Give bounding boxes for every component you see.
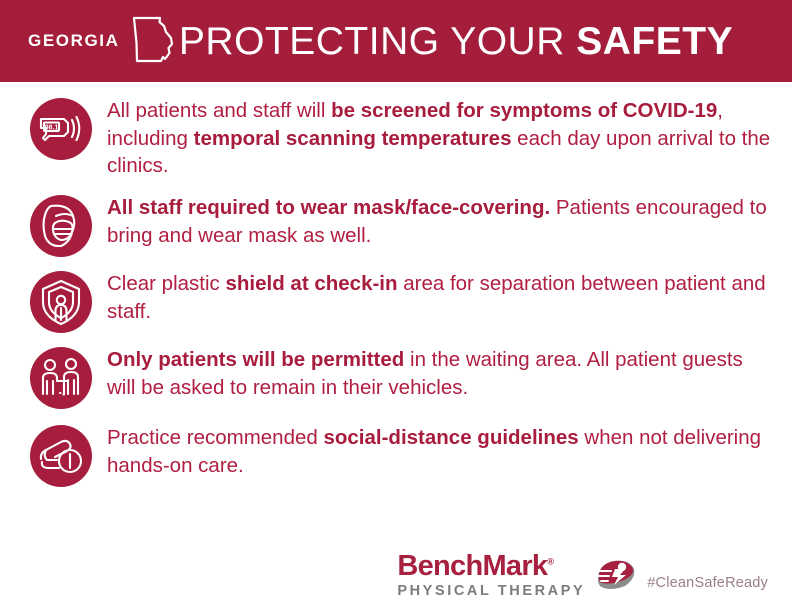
- list-item-text: All patients and staff will be screened …: [107, 96, 775, 180]
- logo-subtitle: PHYSICAL THERAPY: [397, 584, 585, 599]
- list-item: All staff required to wear mask/face-cov…: [30, 193, 776, 257]
- list-item: Only patients will be permitted in the w…: [30, 345, 776, 409]
- georgia-state-outline-icon: [130, 13, 176, 69]
- list-item: 98.1 All patients and staff will be scre…: [30, 96, 776, 180]
- two-people-waiting-icon: [30, 347, 92, 409]
- face-mask-icon: [30, 195, 92, 257]
- hashtag-label: #CleanSafeReady: [647, 575, 768, 591]
- title-light-part: PROTECTING YOUR: [179, 20, 576, 63]
- safety-poster: GEORGIA PROTECTING YOUR SAFETY: [0, 0, 792, 612]
- list-item-text: Only patients will be permitted in the w…: [107, 345, 775, 401]
- social-distance-hands-icon: [30, 425, 92, 487]
- benchmark-logo: BenchMark® PHYSICAL THERAPY: [397, 552, 585, 599]
- title-bold-part: SAFETY: [576, 20, 733, 63]
- benchmark-swoosh-icon: [595, 558, 637, 597]
- registered-mark: ®: [547, 556, 553, 566]
- state-label: GEORGIA: [28, 32, 120, 50]
- list-item-text: All staff required to wear mask/face-cov…: [107, 193, 775, 249]
- list-item-text: Practice recommended social-distance gui…: [107, 423, 775, 479]
- logo-wordmark: BenchMark®: [397, 552, 553, 581]
- thermometer-reading: 98.1: [45, 124, 59, 131]
- temporal-thermometer-icon: 98.1: [30, 98, 92, 160]
- shield-person-icon: [30, 271, 92, 333]
- list-item: Practice recommended social-distance gui…: [30, 423, 776, 487]
- georgia-brand: GEORGIA: [0, 13, 176, 69]
- list-item-text: Clear plastic shield at check-in area fo…: [107, 269, 775, 325]
- safety-measures-list: 98.1 All patients and staff will be scre…: [0, 82, 792, 487]
- list-item: Clear plastic shield at check-in area fo…: [30, 269, 776, 333]
- footer-branding: BenchMark® PHYSICAL THERAPY #CleanSafeRe…: [397, 552, 768, 599]
- poster-header: GEORGIA PROTECTING YOUR SAFETY: [0, 0, 792, 82]
